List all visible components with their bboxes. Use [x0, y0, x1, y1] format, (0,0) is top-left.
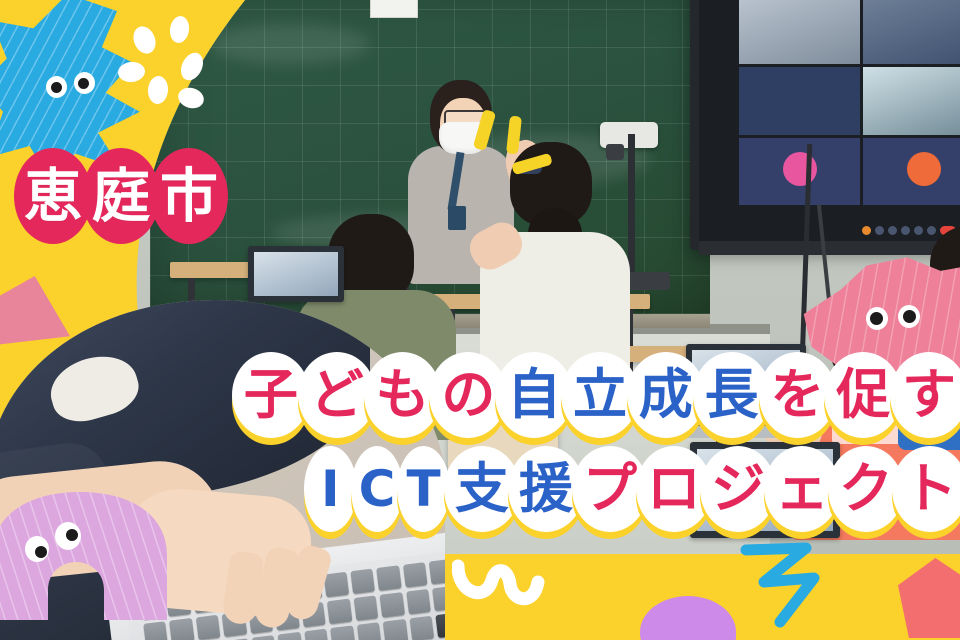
title-glyph: 促 [836, 368, 890, 422]
title-glyph: ク [839, 462, 893, 516]
title-glyph: 成 [639, 368, 693, 422]
camera-icon [875, 226, 884, 235]
pink-triangle [0, 276, 70, 346]
title-glyph: を [770, 368, 824, 422]
wall-display [690, 0, 960, 250]
city-badge-glyph: 市 [160, 167, 218, 225]
title-char: ェ [764, 446, 840, 532]
main-title: 子 ど も の 自 立 成 長 を 促 す I C T 支 援 プ ロ ジ ェ … [232, 352, 956, 532]
title-glyph: の [441, 368, 495, 422]
title-glyph: 援 [519, 462, 573, 516]
video-conference-grid [739, 0, 960, 205]
document-camera-pole [628, 134, 635, 284]
purple-blob-small [640, 596, 736, 640]
city-badge-char: 庭 [82, 148, 160, 244]
city-badge-glyph: 恵 [24, 167, 82, 225]
title-char: 支 [444, 446, 520, 532]
title-glyph: ど [310, 368, 364, 422]
title-char: I [304, 446, 357, 532]
video-tile [863, 67, 960, 134]
title-char: 援 [508, 446, 584, 532]
title-glyph: ェ [775, 462, 829, 516]
title-glyph: T [407, 464, 441, 514]
sparkle-petal [168, 15, 191, 44]
title-char: ジ [700, 446, 776, 532]
title-glyph: I [321, 464, 340, 514]
title-glyph: 子 [244, 368, 298, 422]
coral-pentagon [898, 558, 960, 638]
city-name-badge: 恵 庭 市 [14, 148, 218, 244]
more-icon [927, 226, 936, 235]
sparkle-petal [147, 75, 169, 104]
title-glyph: ジ [711, 462, 765, 516]
title-char: C [351, 446, 404, 532]
sparkle-petal [117, 61, 146, 84]
title-char: T [397, 446, 450, 532]
title-glyph: 自 [507, 368, 561, 422]
city-badge-char: 市 [150, 148, 228, 244]
title-line-2: I C T 支 援 プ ロ ジ ェ ク ト [304, 446, 956, 532]
sparkle-petal [130, 23, 160, 57]
wall-notice [370, 0, 418, 18]
title-glyph: す [902, 368, 956, 422]
title-char: プ [572, 446, 648, 532]
chat-icon [901, 226, 910, 235]
city-badge-glyph: 庭 [92, 167, 150, 225]
title-char: す [890, 352, 960, 438]
city-badge-char: 恵 [14, 148, 92, 244]
title-char: ト [892, 446, 960, 532]
title-char: ク [828, 446, 904, 532]
share-icon [888, 226, 897, 235]
title-glyph: 立 [573, 368, 627, 422]
title-glyph: 長 [705, 368, 759, 422]
title-glyph: ト [903, 462, 957, 516]
blue-blob-eye-left [46, 76, 67, 98]
display-bezel-bar [699, 241, 960, 255]
participants-icon [914, 226, 923, 235]
title-glyph: ロ [647, 462, 701, 516]
id-badge [448, 206, 466, 230]
title-char: ロ [636, 446, 712, 532]
title-glyph: も [376, 368, 430, 422]
video-tile [863, 138, 960, 205]
video-tile [739, 67, 860, 134]
blue-blob-eye-right [74, 72, 95, 94]
video-tile [739, 0, 860, 64]
meeting-controls [862, 226, 956, 235]
face-mask [439, 122, 487, 154]
title-line-1: 子 ど も の 自 立 成 長 を 促 す [232, 352, 956, 438]
video-tile [739, 138, 860, 205]
mic-icon [862, 226, 871, 235]
video-tile [863, 0, 960, 64]
participant-avatar [907, 152, 941, 186]
banner-canvas: 恵 庭 市 子 ど も の 自 立 成 長 を 促 す I C T 支 援 [0, 0, 960, 640]
white-squiggle-icon [452, 548, 572, 628]
title-glyph: 支 [455, 462, 509, 516]
title-glyph: プ [583, 462, 637, 516]
document-camera-lens [606, 144, 624, 160]
title-glyph: C [359, 464, 396, 514]
